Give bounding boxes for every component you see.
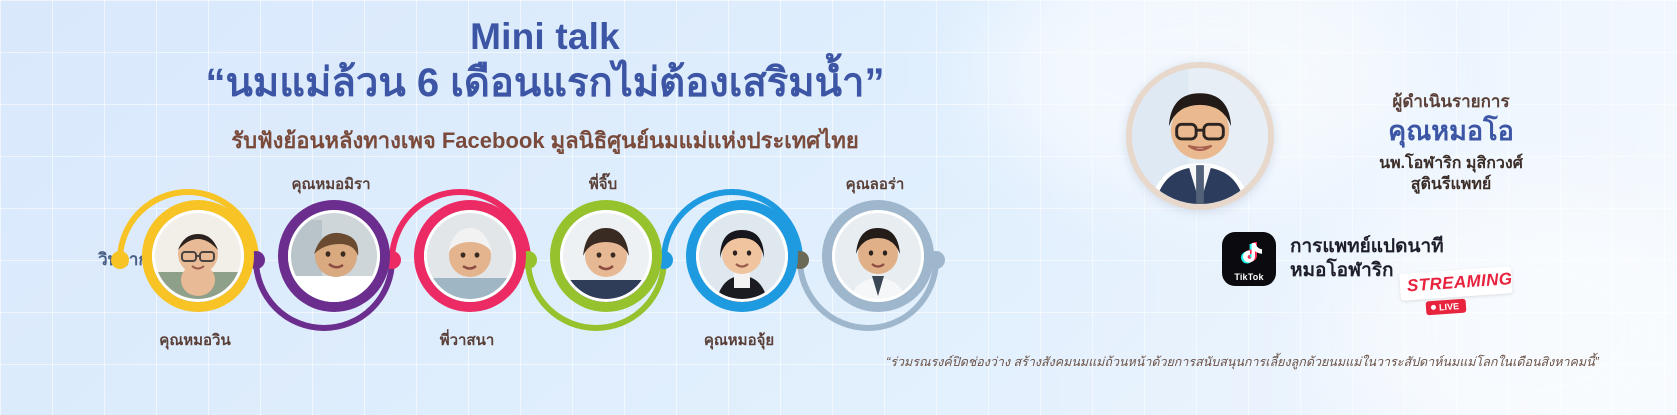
speaker-2-avatar [288,210,380,302]
host-info-block: ผู้ดำเนินรายการ คุณหมอโอ นพ.โอฬาริก มุสิ… [1286,88,1616,196]
portrait-photo [696,210,788,302]
speaker-4-ring [550,200,662,312]
host-fullname: นพ.โอฬาริก มุสิกวงศ์ [1286,153,1616,175]
portrait-photo [560,210,652,302]
speaker-4-name: พี่จิ๊บ [503,172,703,196]
speaker-3-avatar [424,210,516,302]
speaker-2-ring [278,200,390,312]
tiktok-wordmark: TikTok [1222,272,1276,282]
live-label: LIVE [1439,301,1460,312]
speaker-6-name: คุณลอร่า [775,172,975,196]
portrait-photo [152,210,244,302]
speaker-3-ring [414,200,526,312]
tiktok-icon[interactable]: TikTok [1222,232,1276,286]
host-specialty: สูตินรีแพทย์ [1286,174,1616,196]
speaker-timeline: คุณหมอวิน คุณหมอมิรา [0,178,1060,348]
headline-block: Mini talk “นมแม่ล้วน 6 เดือนแรกไม่ต้องเส… [0,16,1090,158]
speaker-1-name: คุณหมอวิน [95,328,295,352]
timeline-node-1 [111,251,129,269]
live-dot-icon [1431,305,1436,310]
speaker-3-name: พี่วาสนา [367,328,567,352]
talk-topic-quote: “นมแม่ล้วน 6 เดือนแรกไม่ต้องเสริมน้ำ” [0,59,1090,107]
speaker-2-name: คุณหมอมิรา [231,172,431,196]
host-role-label: ผู้ดำเนินรายการ [1286,88,1616,115]
page-title: Mini talk [0,16,1090,57]
speaker-5-avatar [696,210,788,302]
replay-info-subtitle: รับฟังย้อนหลังทางเพจ Facebook มูลนิธิศูน… [0,123,1090,158]
host-avatar [1126,62,1274,210]
speaker-5-ring [686,200,798,312]
portrait-photo [424,210,516,302]
webinar-promo-banner: Mini talk “นมแม่ล้วน 6 เดือนแรกไม่ต้องเส… [0,0,1677,415]
host-portrait-photo [1132,68,1268,204]
speaker-4-avatar [560,210,652,302]
footer-caption: “ร่วมรณรงค์ปิดช่องว่าง สร้างสังคมนมแม่ถ้… [820,352,1665,372]
channel-line-1: การแพทย์แปดนาที [1290,235,1444,259]
speaker-5-name: คุณหมอจุ้ย [639,328,839,352]
tiktok-note-glyph [1232,239,1266,273]
live-chip: LIVE [1426,299,1467,316]
speaker-1-ring [142,200,254,312]
host-portrait-svg [1132,68,1268,204]
speaker-6-avatar [832,210,924,302]
streaming-bar: STREAMING [1399,266,1513,301]
host-nickname: คุณหมอโอ [1286,117,1616,147]
streaming-label: STREAMING [1406,269,1513,295]
portrait-photo [288,210,380,302]
portrait-photo [832,210,924,302]
speaker-6-ring [822,200,934,312]
speaker-1-avatar [152,210,244,302]
streaming-badge: STREAMING LIVE [1400,270,1512,315]
